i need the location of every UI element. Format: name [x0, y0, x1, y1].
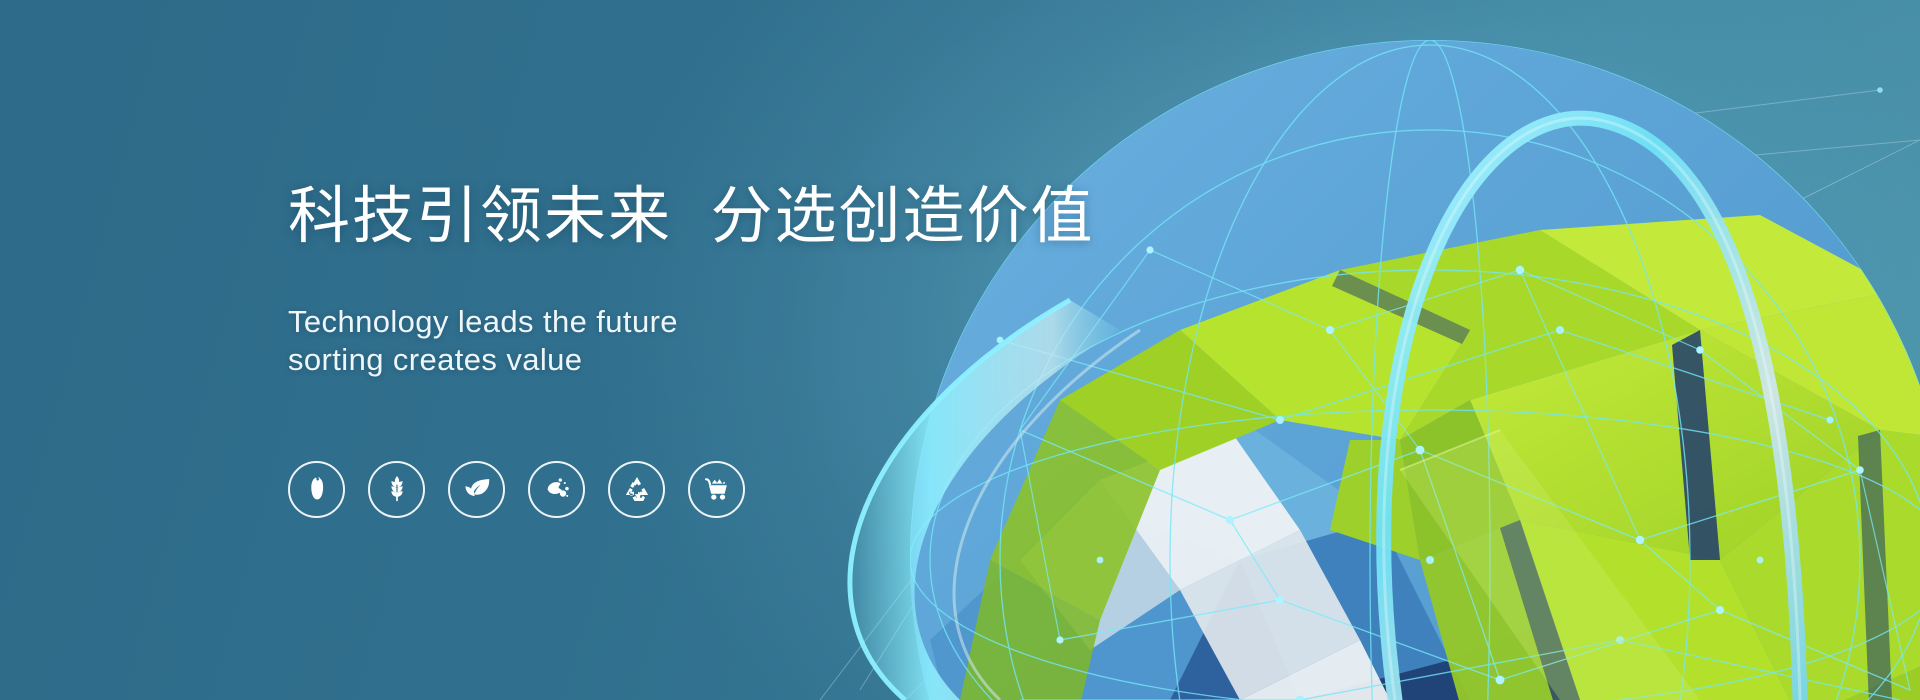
rice-grain-icon: [302, 474, 332, 504]
industry-icon-wheat[interactable]: [368, 461, 425, 518]
industry-icon-nuts[interactable]: [528, 461, 585, 518]
tea-leaf-icon: [462, 474, 492, 504]
subtitle: Technology leads the future sorting crea…: [288, 266, 1094, 417]
ore-cart-icon: [702, 474, 732, 504]
nuts-icon: [542, 474, 572, 504]
industry-icon-recycle[interactable]: [608, 461, 665, 518]
industry-icon-tea-leaf[interactable]: [448, 461, 505, 518]
recycle-icon: [622, 474, 652, 504]
industry-icon-rice-grain[interactable]: [288, 461, 345, 518]
hero-banner: 科技引领未来 分选创造价值 Technology leads the futur…: [0, 0, 1920, 700]
wheat-icon: [382, 474, 412, 504]
page-title: 科技引领未来 分选创造价值: [288, 182, 1094, 251]
subtitle-line-2: sorting creates value: [288, 341, 1094, 379]
banner-content: 科技引领未来 分选创造价值 Technology leads the futur…: [288, 0, 1094, 700]
subtitle-line-1: Technology leads the future: [288, 304, 678, 339]
industry-icon-ore-cart[interactable]: [688, 461, 745, 518]
industry-icon-row: [288, 461, 1094, 518]
